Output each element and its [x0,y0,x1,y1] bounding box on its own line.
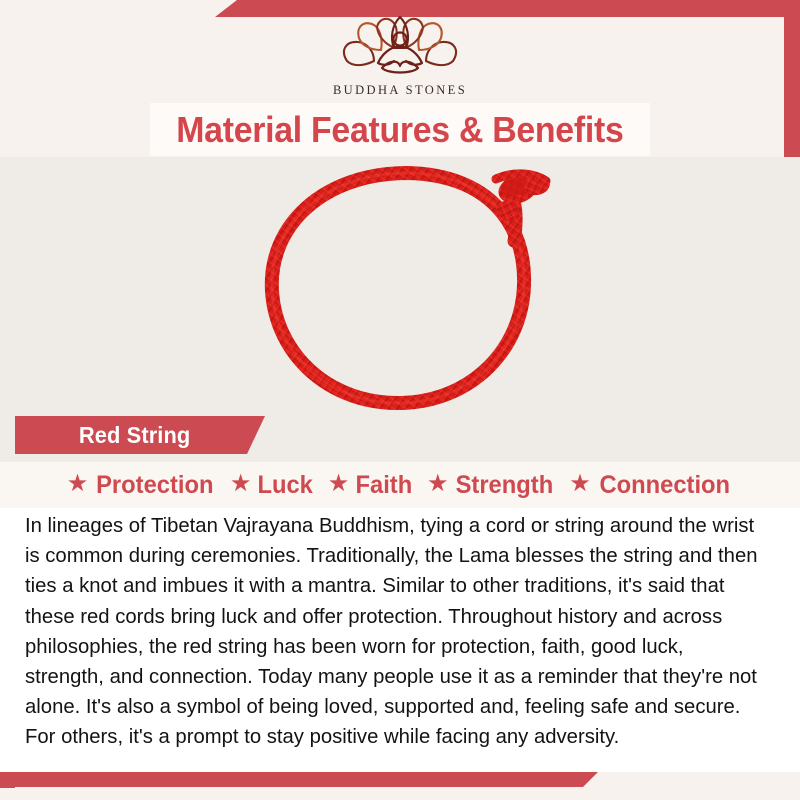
brand-logo: BUDDHA STONES [0,14,800,98]
product-photo-area [0,157,800,429]
star-icon: ★ [569,472,591,496]
page-title: Material Features & Benefits [176,109,623,151]
star-icon: ★ [427,472,449,496]
features-list: ★Protection★Luck★Faith★Strength★Connecti… [0,462,800,508]
feature-item: ★Protection [67,471,217,500]
star-icon: ★ [230,472,252,496]
star-icon: ★ [67,472,89,496]
infographic-page: BUDDHA STONES Material Features & Benefi… [0,0,800,800]
feature-label: Luck [258,471,313,500]
description-text: In lineages of Tibetan Vajrayana Buddhis… [25,511,762,753]
feature-item: ★Luck [230,471,315,500]
lotus-meditation-figure-icon [330,14,470,80]
feature-label: Strength [456,471,554,500]
product-name-label: Red String [79,422,190,449]
feature-label: Faith [356,471,413,500]
feature-label: Protection [96,471,213,500]
product-name-ribbon: Red String [15,416,265,454]
feature-item: ★Strength [427,471,556,500]
red-braided-string-bracelet-image [196,157,616,429]
feature-label: Connection [599,471,730,500]
star-icon: ★ [328,472,350,496]
feature-item: ★Faith [328,471,414,500]
feature-item: ★Connection [569,471,733,500]
title-banner: Material Features & Benefits [150,103,650,156]
brand-wordmark: BUDDHA STONES [333,83,467,98]
